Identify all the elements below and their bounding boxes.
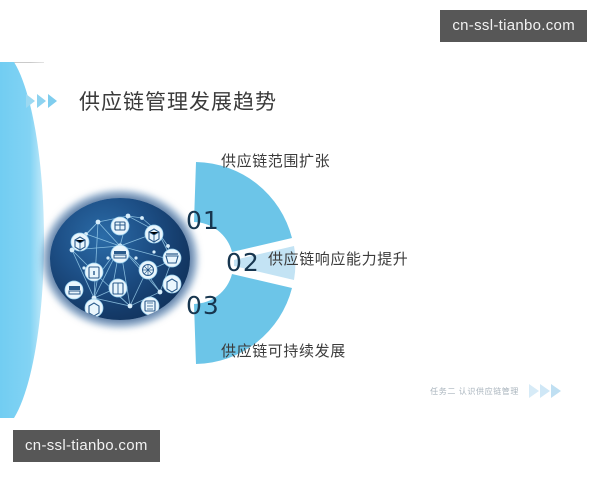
chevron-right-icon <box>37 94 46 108</box>
footer-text: 任务二 认识供应链管理 <box>430 386 519 397</box>
segment-number-03: 03 <box>186 291 220 320</box>
title-row: 供应链管理发展趋势 <box>26 86 277 116</box>
slide-footer: 任务二 认识供应链管理 <box>430 384 562 398</box>
segment-label-01: 供应链范围扩张 <box>221 150 330 171</box>
watermark-top: cn-ssl-tianbo.com <box>440 10 587 42</box>
chevron-right-icon <box>540 384 550 398</box>
chevron-right-icon <box>529 384 539 398</box>
segment-number-02: 02 <box>226 248 260 277</box>
chevron-right-icon <box>26 94 35 108</box>
page-title: 供应链管理发展趋势 <box>79 86 277 116</box>
segment-label-03: 供应链可持续发展 <box>221 340 346 361</box>
segment-number-01: 01 <box>186 206 220 235</box>
slide-canvas: 供应链管理发展趋势 <box>0 62 600 418</box>
segment-label-02: 供应链响应能力提升 <box>268 248 408 269</box>
watermark-bottom: cn-ssl-tianbo.com <box>13 430 160 462</box>
chevron-right-icon <box>551 384 561 398</box>
chevron-right-icon <box>48 94 57 108</box>
